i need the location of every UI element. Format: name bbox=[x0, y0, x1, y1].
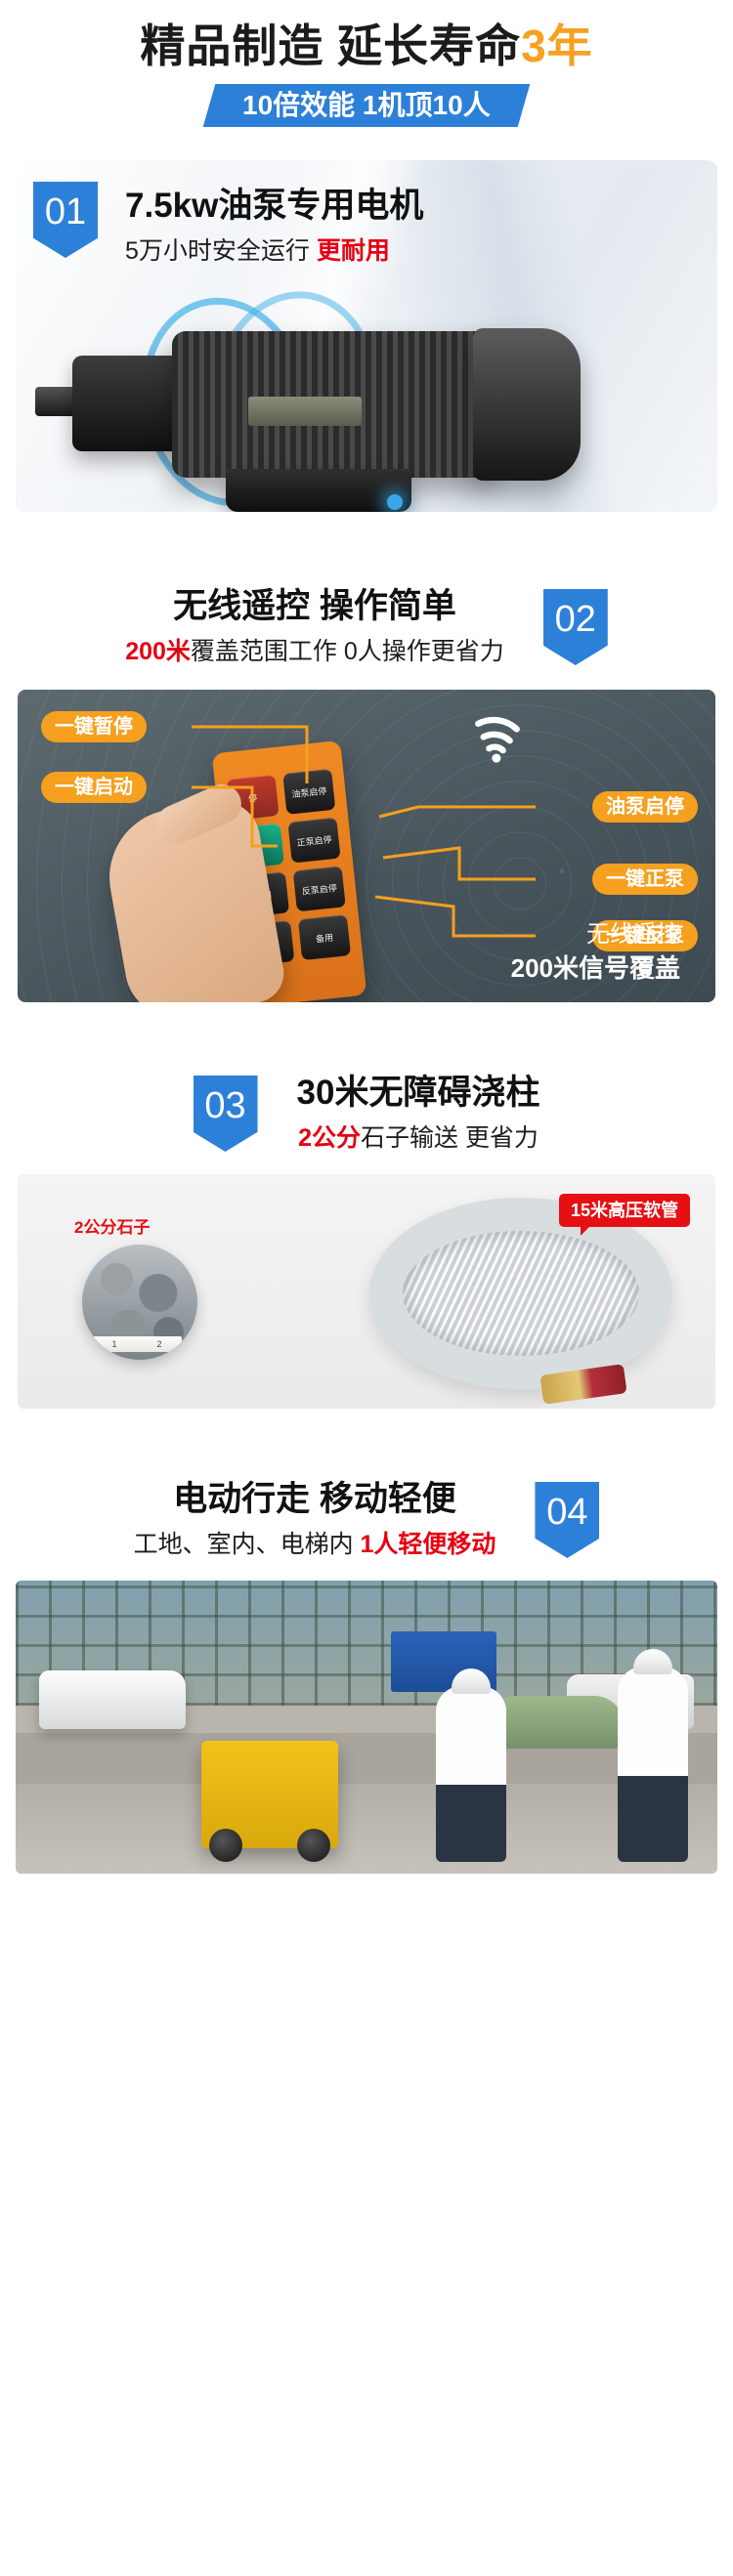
machine-wheel-rear bbox=[297, 1829, 330, 1862]
callout-start: 一键启动 bbox=[41, 772, 147, 803]
section-01-subtitle: 5万小时安全运行 更耐用 bbox=[125, 232, 423, 270]
section-04: 电动行走 移动轻便 工地、室内、电梯内 1人轻便移动 04 bbox=[0, 1477, 733, 1874]
ground-surface bbox=[16, 1784, 717, 1874]
motor-illustration bbox=[16, 277, 717, 512]
section-02-subtitle-normal: 覆盖范围工作 0人操作更省力 bbox=[191, 638, 504, 665]
page-title: 精品制造 延长寿命3年 bbox=[0, 18, 733, 74]
section-02-subtitle-highlight: 200米 bbox=[125, 638, 191, 665]
section-03-subtitle-highlight: 2公分 bbox=[298, 1124, 361, 1152]
section-03-header: 03 30米无障碍浇柱 2公分石子输送 更省力 bbox=[0, 1071, 733, 1157]
ruler-mark-2: 2 bbox=[156, 1339, 161, 1349]
section-04-subtitle-highlight: 1人轻便移动 bbox=[361, 1531, 496, 1558]
section-04-subtitle-normal: 工地、室内、电梯内 bbox=[134, 1531, 361, 1558]
section-04-text: 电动行走 移动轻便 工地、室内、电梯内 1人轻便移动 bbox=[134, 1477, 496, 1563]
section-badge-01-label: 01 bbox=[45, 191, 86, 233]
page-title-main: 精品制造 延长寿命 bbox=[140, 21, 521, 71]
jobsite-photo bbox=[16, 1581, 717, 1874]
section-01: 01 7.5kw油泵专用电机 5万小时安全运行 更耐用 bbox=[16, 160, 717, 512]
gravel-sample-photo: 1 2 bbox=[82, 1245, 197, 1360]
hose-and-gravel-photo: 1 2 2公分石子 15米高压软管 bbox=[18, 1174, 715, 1409]
concrete-pump-machine bbox=[201, 1741, 338, 1848]
section-03-title: 30米无障碍浇柱 bbox=[297, 1071, 540, 1116]
section-badge-02: 02 bbox=[543, 589, 608, 665]
callout-forward-pump: 一键正泵 bbox=[592, 864, 698, 895]
section-03-subtitle-normal: 石子输送 更省力 bbox=[361, 1124, 539, 1152]
ruler-mark-1: 1 bbox=[111, 1339, 116, 1349]
section-02-note-line1: 无线遥控 bbox=[511, 918, 680, 951]
motor-base bbox=[226, 469, 411, 512]
section-02-text: 无线遥控 操作简单 200米覆盖范围工作 0人操作更省力 bbox=[125, 584, 504, 670]
section-badge-04-label: 04 bbox=[546, 1492, 587, 1534]
callout-pause: 一键暂停 bbox=[41, 711, 147, 742]
section-03-subtitle: 2公分石子输送 更省力 bbox=[297, 1119, 540, 1157]
remote-control-photo: 停 油泵启停 动 正泵启停 备用 反泵启停 备用 备用 bbox=[18, 690, 715, 1002]
motor-nameplate bbox=[248, 397, 362, 426]
section-badge-01: 01 bbox=[33, 182, 98, 258]
section-02-subtitle: 200米覆盖范围工作 0人操作更省力 bbox=[125, 633, 504, 670]
header-banner-wrap: 10倍效能 1机顶10人 bbox=[0, 84, 733, 127]
worker-standing bbox=[618, 1667, 688, 1862]
gravel-label: 2公分石子 bbox=[74, 1213, 150, 1238]
section-02-header: 无线遥控 操作简单 200米覆盖范围工作 0人操作更省力 02 bbox=[0, 584, 733, 670]
section-01-text: 7.5kw油泵专用电机 5万小时安全运行 更耐用 bbox=[125, 182, 423, 270]
section-01-subtitle-highlight: 更耐用 bbox=[317, 237, 390, 265]
callout-pump-toggle: 油泵启停 bbox=[592, 791, 698, 823]
section-badge-04: 04 bbox=[535, 1482, 599, 1558]
section-03-text: 30米无障碍浇柱 2公分石子输送 更省力 bbox=[297, 1071, 540, 1157]
section-badge-02-label: 02 bbox=[555, 599, 596, 641]
page-title-accent: 3年 bbox=[521, 21, 593, 71]
section-04-subtitle: 工地、室内、电梯内 1人轻便移动 bbox=[134, 1526, 496, 1563]
section-01-header: 01 7.5kw油泵专用电机 5万小时安全运行 更耐用 bbox=[33, 182, 700, 270]
section-badge-03-label: 03 bbox=[204, 1085, 245, 1127]
white-van-left bbox=[39, 1670, 186, 1729]
section-02-note: 无线遥控 200米信号覆盖 bbox=[511, 918, 680, 985]
hose-length-tag: 15米高压软管 bbox=[559, 1194, 690, 1227]
machine-wheel-front bbox=[209, 1829, 242, 1862]
section-02: 无线遥控 操作简单 200米覆盖范围工作 0人操作更省力 02 bbox=[0, 584, 733, 1002]
section-01-title: 7.5kw油泵专用电机 bbox=[125, 184, 423, 229]
product-detail-page: 精品制造 延长寿命3年 10倍效能 1机顶10人 01 7.5kw油泵专用电机 … bbox=[0, 0, 733, 2576]
motor-end-cap bbox=[473, 328, 581, 481]
section-04-title: 电动行走 移动轻便 bbox=[134, 1477, 496, 1522]
page-header: 精品制造 延长寿命3年 10倍效能 1机顶10人 bbox=[0, 0, 733, 147]
gravel-ruler: 1 2 bbox=[92, 1336, 182, 1352]
section-03: 03 30米无障碍浇柱 2公分石子输送 更省力 1 2 2公分石子 15米高压软… bbox=[0, 1071, 733, 1409]
header-banner-label: 10倍效能 1机顶10人 bbox=[242, 84, 491, 127]
covered-material-pile bbox=[487, 1696, 624, 1749]
section-badge-03: 03 bbox=[194, 1076, 258, 1152]
header-banner: 10倍效能 1机顶10人 bbox=[203, 84, 530, 127]
section-01-subtitle-normal: 5万小时安全运行 bbox=[125, 237, 317, 265]
motor-indicator-light bbox=[387, 494, 403, 510]
section-04-header: 电动行走 移动轻便 工地、室内、电梯内 1人轻便移动 04 bbox=[0, 1477, 733, 1563]
section-02-note-line2: 200米信号覆盖 bbox=[511, 951, 680, 985]
worker-operating bbox=[436, 1686, 506, 1862]
section-02-title: 无线遥控 操作简单 bbox=[125, 584, 504, 629]
